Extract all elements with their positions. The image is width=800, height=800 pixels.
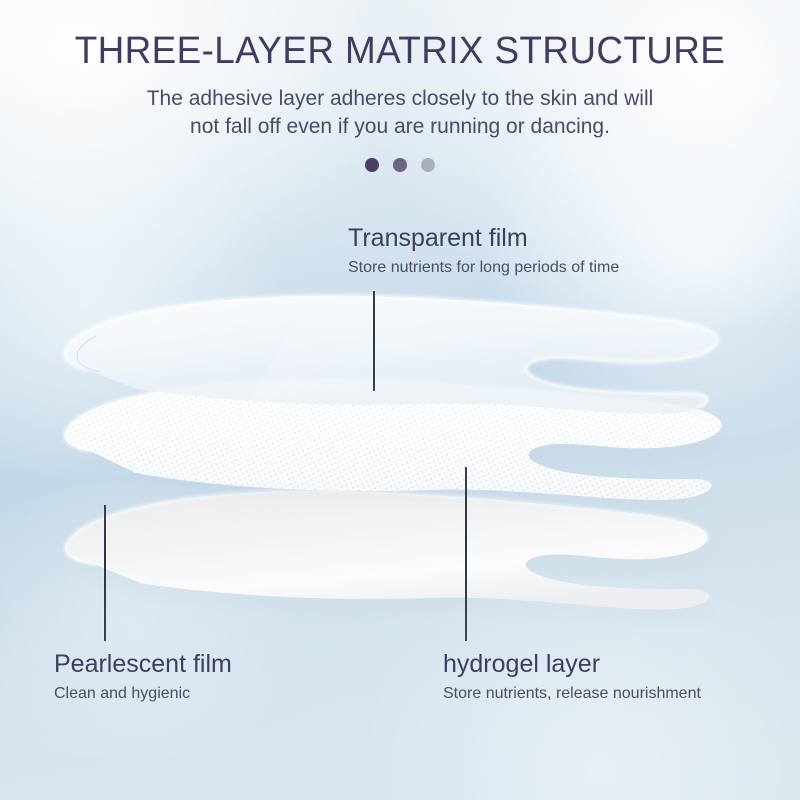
hydrogel-layer-shading — [65, 380, 722, 500]
product-infographic-canvas: THREE-LAYER MATRIX STRUCTURE The adhesiv… — [0, 0, 800, 800]
pearlescent-film-body — [65, 491, 709, 610]
callout-pearlescent-film-description: Clean and hygienic — [54, 685, 232, 703]
carousel-dot-3[interactable] — [421, 158, 435, 172]
subtitle-line-1: The adhesive layer adheres closely to th… — [147, 87, 654, 110]
leader-line-pearlescent-film — [104, 505, 106, 641]
page-title: THREE-LAYER MATRIX STRUCTURE — [12, 30, 788, 73]
transparent-film-body — [65, 296, 718, 414]
callout-transparent-film: Transparent film Store nutrients for lon… — [348, 224, 619, 277]
background-bloom-bottom-left — [0, 480, 320, 760]
callout-transparent-film-title: Transparent film — [348, 224, 619, 253]
callout-pearlescent-film-title: Pearlescent film — [54, 650, 232, 679]
callout-pearlescent-film: Pearlescent film Clean and hygienic — [54, 650, 232, 703]
transparent-film-layer — [65, 296, 718, 414]
pearlescent-film-layer — [65, 491, 713, 624]
header-block: THREE-LAYER MATRIX STRUCTURE The adhesiv… — [0, 0, 800, 172]
pearlescent-film-shadow — [69, 505, 713, 624]
leader-line-hydrogel-layer — [465, 467, 467, 641]
transparent-film-sheen — [250, 300, 560, 404]
hydrogel-layer — [65, 380, 726, 512]
callout-hydrogel-layer: hydrogel layer Store nutrients, release … — [443, 650, 701, 703]
pearlescent-film-highlight — [65, 491, 707, 565]
carousel-dots — [0, 158, 800, 172]
transparent-film-left-edge — [77, 336, 100, 372]
callout-transparent-film-description: Store nutrients for long periods of time — [348, 259, 619, 277]
leader-line-transparent-film — [373, 291, 375, 391]
subtitle-line-2: not fall off even if you are running or … — [190, 115, 610, 138]
transparent-film-gloss — [65, 296, 718, 414]
page-subtitle: The adhesive layer adheres closely to th… — [100, 85, 700, 140]
callout-hydrogel-layer-description: Store nutrients, release nourishment — [443, 685, 701, 703]
hydrogel-layer-body — [65, 380, 722, 500]
transparent-film-highlight — [65, 296, 718, 408]
background-bloom-left — [0, 120, 300, 480]
hydrogel-layer-highlight — [65, 380, 664, 452]
carousel-dot-2[interactable] — [393, 158, 407, 172]
callout-hydrogel-layer-title: hydrogel layer — [443, 650, 701, 679]
hydrogel-layer-shadow — [69, 392, 726, 512]
carousel-dot-1[interactable] — [365, 158, 379, 172]
